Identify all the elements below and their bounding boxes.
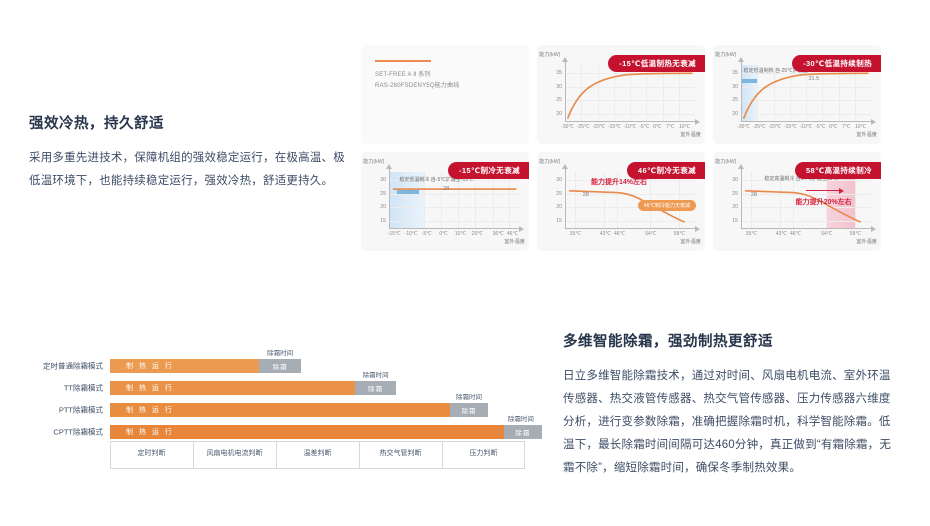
xtick: 10℃ <box>679 124 690 130</box>
section-body-defrost: 日立多维智能除霜技术，通过对时间、风扇电机电流、室外环温传感器、热交液管传感器、… <box>563 365 893 480</box>
xtick: -5℃ <box>422 231 432 237</box>
xtick: -25℃ <box>753 124 766 130</box>
xtick: 54℃ <box>645 231 656 237</box>
section-title-defrost: 多维智能除霜，强劲制热更舒适 <box>563 330 893 351</box>
xtick: -15℃ <box>784 124 797 130</box>
xtick: -5℃ <box>815 124 825 130</box>
y-axis-label: 能力(kW) <box>363 158 384 165</box>
ytick: 20 <box>732 204 738 210</box>
xtick: 36℃ <box>493 231 504 237</box>
ytick: 30 <box>556 177 562 183</box>
curve-heat-15 <box>565 65 695 122</box>
plot-area-heat-15: 31.5 35 30 25 20 -30℃ -25℃ -20℃ -15℃ -10… <box>565 65 695 122</box>
xtick: 0℃ <box>653 124 661 130</box>
defrost-row-label: CPTT除霜模式 <box>25 427 103 438</box>
pill-cool-46: 46℃制冷能力无衰减 <box>638 200 696 211</box>
range-arrow-icon <box>806 190 840 191</box>
xtick: 7℃ <box>666 124 674 130</box>
xtick: 10℃ <box>855 124 866 130</box>
ytick: 30 <box>732 177 738 183</box>
ytick: 25 <box>732 191 738 197</box>
xtick: -30℃ <box>561 124 574 130</box>
ytick: 25 <box>732 97 738 103</box>
model-label-card: SET-FREE A Ⅱ 系列 RAS-280FSDENY5Q能力曲线 <box>361 45 529 144</box>
xtick: -10℃ <box>624 124 637 130</box>
xtick: -20℃ <box>592 124 605 130</box>
defrost-time-label: 除霜时间 <box>267 347 293 357</box>
defrost-axis-item: 定时判断 <box>138 448 166 458</box>
chart-card-cool-15: -15℃制冷无衰减 稳定低温制冷 自-5℃扩展至-15℃ 28 30 25 20… <box>361 152 529 251</box>
xtick: -20℃ <box>768 124 781 130</box>
chart-badge-cool-46: 46℃制冷无衰减 <box>627 162 705 179</box>
xtick: 35℃ <box>746 231 757 237</box>
xtick: 43℃ <box>600 231 611 237</box>
defrost-axis-item: 温差判断 <box>304 448 332 458</box>
chart-card-heat-15: -15℃低温制热无衰减 31.5 35 30 25 20 -30℃ -25℃ -… <box>537 45 705 144</box>
xtick: 0℃ <box>439 231 447 237</box>
defrost-axis-item: 热交气管判断 <box>380 448 422 458</box>
xtick: 35℃ <box>570 231 581 237</box>
chart-badge-cool-58: 58℃高温持续制冷 <box>795 162 881 179</box>
data-label-heat-30: 31.5 <box>808 76 819 82</box>
chart-badge-heat-15: -15℃低温制热无衰减 <box>608 55 705 72</box>
ytick: 25 <box>380 191 386 197</box>
x-axis-label: 室外温度 <box>680 131 701 138</box>
ytick: 15 <box>732 218 738 224</box>
ytick: 20 <box>732 111 738 117</box>
page-title: 强效冷热，持久舒适 <box>29 112 349 133</box>
xtick: 46℃ <box>790 231 801 237</box>
heating-bar: 制 热 运 行 <box>110 381 355 395</box>
xtick: 46℃ <box>507 231 518 237</box>
ytick: 25 <box>556 191 562 197</box>
plot-area-cool-15: 稳定低温制冷 自-5℃扩展至-15℃ 28 30 25 20 15 -15℃ -… <box>389 172 519 229</box>
ytick: 20 <box>380 204 386 210</box>
xtick: 7℃ <box>842 124 850 130</box>
plot-area-heat-30: 稳定低温制热 自-25℃扩展至-30℃ 31.5 35 30 25 20 -30… <box>741 65 871 122</box>
defrost-chart: 定时普通除霜模式 TT除霜模式 PTT除霜模式 CPTT除霜模式 制 热 运 行… <box>25 340 525 455</box>
chart-card-heat-30: -30℃低温持续制热 稳定低温制热 自-25℃扩展至-30℃ 31.5 35 3… <box>713 45 881 144</box>
heating-bar: 制 热 运 行 <box>110 403 450 417</box>
chart-card-cool-46: 46℃制冷无衰减 能力提升14%左右 28 46℃制冷能力无衰减 30 25 2… <box>537 152 705 251</box>
ytick: 15 <box>556 218 562 224</box>
defrost-axis-item: 压力判断 <box>470 448 498 458</box>
defrost-block: 除霜 <box>450 403 487 417</box>
ytick: 20 <box>556 111 562 117</box>
data-label-cool-15: 28 <box>443 186 449 192</box>
x-axis-label: 室外温度 <box>856 238 877 245</box>
xtick: 20℃ <box>472 231 483 237</box>
ytick: 20 <box>556 204 562 210</box>
xtick: -10℃ <box>405 231 418 237</box>
x-axis-label: 室外温度 <box>856 131 877 138</box>
y-axis-label: 能力(kW) <box>539 158 560 165</box>
xtick: -30℃ <box>737 124 750 130</box>
ytick: 15 <box>380 218 386 224</box>
heating-bar: 制 热 运 行 <box>110 425 504 439</box>
defrost-time-label: 除霜时间 <box>363 369 389 379</box>
smart-defrost-section: 多维智能除霜，强劲制热更舒适 日立多维智能除霜技术，通过对时间、风扇电机电流、室… <box>563 330 893 480</box>
ytick: 30 <box>556 84 562 90</box>
defrost-time-label: 除霜时间 <box>508 413 534 423</box>
xtick: 58℃ <box>674 231 685 237</box>
data-label-cool-58: 28 <box>751 192 757 198</box>
chart-badge-cool-15: -15℃制冷无衰减 <box>448 162 529 179</box>
heating-bar: 制 热 运 行 <box>110 359 259 373</box>
xtick: 58℃ <box>850 231 861 237</box>
xtick: 54℃ <box>821 231 832 237</box>
xtick: 43℃ <box>776 231 787 237</box>
defrost-row-label: 定时普通除霜模式 <box>25 361 103 372</box>
plot-area-cool-46: 能力提升14%左右 28 46℃制冷能力无衰减 30 25 20 15 35℃ … <box>565 172 695 229</box>
xtick: -5℃ <box>639 124 649 130</box>
model-label-line1: SET-FREE A Ⅱ 系列 <box>375 70 460 81</box>
defrost-axis-item: 风扇电机电流判断 <box>207 448 263 458</box>
section-body-text: 采用多重先进技术，保障机组的强效稳定运行，在极高温、极低温环境下，也能持续稳定运… <box>29 147 349 193</box>
ytick: 35 <box>732 70 738 76</box>
xtick: -10℃ <box>800 124 813 130</box>
defrost-row-label: TT除霜模式 <box>25 383 103 394</box>
ytick: 35 <box>556 70 562 76</box>
defrost-time-label: 除霜时间 <box>456 391 482 401</box>
ytick: 25 <box>556 97 562 103</box>
y-axis-label: 能力(kW) <box>715 158 736 165</box>
data-label-cool-46: 28 <box>583 192 589 198</box>
x-axis-label: 室外温度 <box>680 238 701 245</box>
xtick: -15℃ <box>388 231 401 237</box>
y-axis-label: 能力(kW) <box>539 51 560 58</box>
defrost-row-label: PTT除霜模式 <box>25 405 103 416</box>
defrost-block: 除霜 <box>355 381 397 395</box>
strong-cooling-heating-section: 强效冷热，持久舒适 采用多重先进技术，保障机组的强效稳定运行，在极高温、极低温环… <box>29 112 349 193</box>
defrost-plot-area: 制 热 运 行 除霜 除霜时间 制 热 运 行 除霜 除霜时间 制 热 运 行 … <box>110 340 525 455</box>
defrost-axis: 定时判断 风扇电机电流判断 温差判断 热交气管判断 压力判断 <box>110 441 525 469</box>
model-label-rule <box>375 60 431 62</box>
defrost-block: 除霜 <box>504 425 541 439</box>
y-axis-label: 能力(kW) <box>715 51 736 58</box>
xtick: 10℃ <box>455 231 466 237</box>
model-label-line2: RAS-280FSDENY5Q能力曲线 <box>375 81 460 92</box>
x-axis-label: 室外温度 <box>504 238 525 245</box>
xtick: -25℃ <box>577 124 590 130</box>
plot-area-cool-58: 稳定高温制冷 自54℃扩展至58℃ 能力提升20%左右 28 30 25 20 … <box>741 172 871 229</box>
note-cool-58: 能力提升20%左右 <box>796 197 852 207</box>
ytick: 30 <box>732 84 738 90</box>
xtick: 0℃ <box>829 124 837 130</box>
ytick: 30 <box>380 177 386 183</box>
xtick: 46℃ <box>614 231 625 237</box>
chart-badge-heat-30: -30℃低温持续制热 <box>792 55 881 72</box>
xtick: -15℃ <box>608 124 621 130</box>
defrost-block: 除霜 <box>259 359 301 373</box>
chart-card-cool-58: 58℃高温持续制冷 稳定高温制冷 自54℃扩展至58℃ 能力提升20%左右 28… <box>713 152 881 251</box>
